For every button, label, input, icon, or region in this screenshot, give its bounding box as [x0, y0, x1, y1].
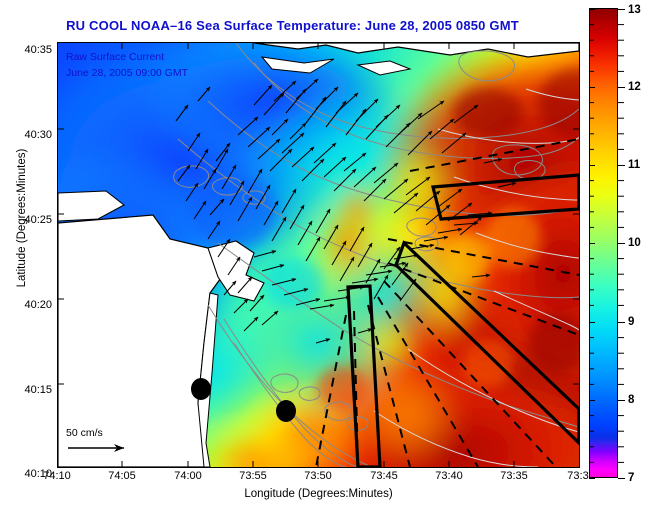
- ytick-0-text: 40:35: [24, 44, 52, 56]
- map-plot-area[interactable]: Raw Surface Current June 28, 2005 09:00 …: [57, 42, 580, 468]
- xtick-7: 73:35: [500, 470, 528, 482]
- cbtick-8: 8: [628, 394, 634, 406]
- annotation-timestamp: June 28, 2005 09:00 GMT: [66, 67, 188, 79]
- y-axis-label: Latitude (Degrees:Minutes): [16, 108, 28, 328]
- xtick-2: 74:00: [174, 470, 202, 482]
- arrow-right-icon: [66, 439, 132, 457]
- ytick-4-text: 40:15: [24, 384, 52, 396]
- annotation-raw-surface-current: Raw Surface Current: [66, 51, 164, 63]
- ytick-2-text: 40:25: [24, 214, 52, 226]
- x-axis-label: Longitude (Degrees:Minutes): [57, 488, 580, 500]
- station-marker: [276, 400, 296, 422]
- cbtick-10: 10: [628, 237, 641, 249]
- ytick-5-text: 40:10: [24, 468, 52, 480]
- cbtick-12: 12: [628, 81, 641, 93]
- cbtick-11: 11: [628, 159, 640, 171]
- map-canvas: Raw Surface Current June 28, 2005 09:00 …: [58, 43, 579, 467]
- figure-title: RU COOL NOAA–16 Sea Surface Temperature:…: [0, 18, 585, 33]
- station-marker: [191, 378, 211, 400]
- cbtick-7: 7: [628, 472, 634, 484]
- current-scale-bar: 50 cm/s: [66, 427, 132, 462]
- ytick-3-text: 40:20: [24, 299, 52, 311]
- scale-bar-label: 50 cm/s: [66, 427, 132, 439]
- xtick-4: 73:50: [304, 470, 332, 482]
- xtick-3: 73:55: [239, 470, 267, 482]
- ytick-1-text: 40:30: [24, 129, 52, 141]
- cbtick-9: 9: [628, 316, 634, 328]
- xtick-6: 73:40: [435, 470, 463, 482]
- xtick-5: 73:45: [370, 470, 398, 482]
- overlay-annotation-layer: [58, 43, 579, 467]
- cbtick-13: 13: [628, 4, 641, 16]
- xtick-1: 74:05: [108, 470, 136, 482]
- xtick-8: 73:3: [567, 470, 588, 482]
- sst-map-figure: RU COOL NOAA–16 Sea Surface Temperature:…: [0, 0, 651, 515]
